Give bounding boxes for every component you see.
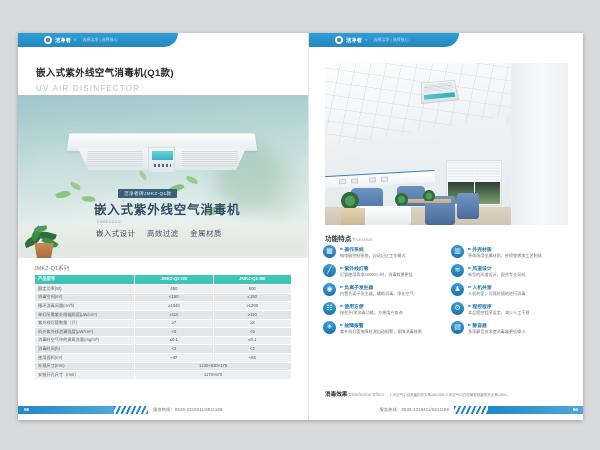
feature-text: ▸▸操作系统微电脑控制系统，自动记忆工作模式 <box>340 245 406 259</box>
circle-logo-icon <box>44 36 52 44</box>
table-row: 紫外线灯管数量（只）≥7≥8 <box>35 319 292 328</box>
feature-item: ▤▸▸静音器多项静音技术使消毒器更低噪小 <box>451 321 573 335</box>
room-plant-icon <box>341 192 359 208</box>
feature-item: ≋▸▸风道设计新型的风道设计，配合专业风机 <box>451 264 573 278</box>
control-panel-icon: ▦ <box>323 245 336 258</box>
feature-item: ◉▸▸负离子发生器内置负离子发生器，辅助消毒、净化空气 <box>323 283 445 297</box>
brand-trademark-icon: ® <box>74 38 76 42</box>
feature-item: ▦▸▸操作系统微电脑控制系统，自动记忆工作模式 <box>323 245 445 259</box>
spec-row-label: 机外紫外线泄漏强度(μW/cm²) <box>35 328 135 337</box>
spec-row-label: 额定功率(W) <box>35 285 135 294</box>
table-row: 循环消毒风量(m³/h)≥1040≥1200 <box>35 302 292 311</box>
specification-table: 产品型号 JMKZ-Q1-I30 JMKZ-Q1-I50 额定功率(W)4505… <box>34 274 292 380</box>
background-blur-blob <box>256 153 300 219</box>
feature-description: 壳体选用金属材质，经喷塑烤漆工艺制成 <box>468 254 542 259</box>
feature-title: 人机共室 <box>472 284 491 291</box>
feature-text: ▸▸使用方便按在开/关消毒功能，方便用户查询 <box>340 302 403 316</box>
spec-table-body: 额定功率(W)450500消毒空间(m³)≤150≤150循环消毒风量(m³/h… <box>35 285 292 380</box>
effect-label-en: /Disinfection Effect <box>347 392 383 397</box>
hero-feature-list: 嵌入式设计 高效过滤 金属材质 <box>96 228 231 239</box>
wall-outlet-icon <box>381 177 388 182</box>
table-row: 单灯所需紫外线辐照度(μW/cm²)≥110≥110 <box>35 311 292 320</box>
chevron-right-icon: ▸▸ <box>468 266 470 270</box>
spec-row-value: ≥8 <box>213 319 291 328</box>
table-header-row: 产品型号 JMKZ-Q1-I30 JMKZ-Q1-I50 <box>35 275 292 285</box>
catalog-spread: 洁净者 ® 选择洁净 | 选择放心 嵌入式紫外线空气消毒机(Q1款) UV AI… <box>18 33 583 420</box>
easy-use-icon: ☷ <box>323 302 336 315</box>
feature-text: ▸▸静音器多项静音技术使消毒器更低噪小 <box>468 321 525 335</box>
spec-row-value: <5 <box>213 328 291 337</box>
features-title-en: /Function <box>351 237 373 242</box>
program-icon: ⚙ <box>451 302 464 315</box>
feature-description: 灯管使用寿命≥6000小时，消毒效果更佳 <box>340 273 413 278</box>
feature-description: 按在开/关消毒功能，方便用户查询 <box>340 311 403 316</box>
effect-description: 1.对空气中自然菌的杀灭率≥95.90% 2.对空气中白色葡萄球菌的杀灭率≥99… <box>390 393 511 398</box>
feature-title: 操作系统 <box>344 246 363 253</box>
spec-row-label: 紫外线灯管数量（只） <box>35 319 135 328</box>
feature-text: ▸▸紫外线灯管灯管使用寿命≥6000小时，消毒效果更佳 <box>340 264 413 278</box>
footer-bar: 56 <box>488 406 583 414</box>
feature-item: ╱▸▸紫外线灯管灯管使用寿命≥6000小时，消毒效果更佳 <box>323 264 445 278</box>
feature-text: ▸▸程控程序本品程控程序设定，减少人工干预 <box>468 302 529 316</box>
spec-row-value: ≤0.1 <box>213 336 291 345</box>
spec-row-value: ≥110 <box>213 311 291 320</box>
spec-row-value: 1170×570 <box>135 371 292 380</box>
feature-description: 多项静音技术使消毒器更低噪小 <box>468 330 525 335</box>
footer-stripe-decoration <box>114 406 148 414</box>
chevron-right-icon: ▸▸ <box>340 266 342 270</box>
spec-row-value: <2 <box>213 345 291 354</box>
ion-generator-icon: ◉ <box>323 283 336 296</box>
chevron-right-icon: ▸▸ <box>468 247 470 251</box>
wall-outlet-icon <box>339 179 346 184</box>
feature-item: ♟▸▸人机共室人机共室，可随时随地进行消毒 <box>451 283 573 297</box>
features-title-cn: 功能特点 <box>325 236 351 243</box>
feature-item: ✳▸▸故障报警紫外线灯管故障检测自动报警，保障消毒效果 <box>323 321 445 335</box>
brand-name: 洁净者 <box>346 37 362 44</box>
chevron-right-icon: ▸▸ <box>340 247 342 251</box>
spec-row-value: ≤0.1 <box>135 336 213 345</box>
spec-table-header: 产品型号 JMKZ-Q1-I30 JMKZ-Q1-I50 <box>35 275 292 285</box>
feature-head: ▸▸使用方便 <box>340 303 403 310</box>
hero-feature-item: 嵌入式设计 <box>96 229 135 238</box>
feature-title: 紫外线灯管 <box>344 265 368 272</box>
feature-head: ▸▸负离子发生器 <box>340 284 414 291</box>
room-side-wall <box>506 63 568 225</box>
ceiling-mounted-disinfector <box>421 80 459 104</box>
spec-row-value: ≈47 <box>135 354 213 363</box>
spec-row-value: ≥1040 <box>135 302 213 311</box>
room-plant-icon <box>395 193 408 205</box>
feature-head: ▸▸静音器 <box>468 322 525 329</box>
footer-bar: 55 <box>18 406 114 414</box>
potted-plant-decoration <box>22 214 66 258</box>
page-number: 56 <box>488 407 583 412</box>
hospital-bed-footboard <box>457 193 479 219</box>
feature-item: ☷▸▸使用方便按在开/关消毒功能，方便用户查询 <box>323 302 445 316</box>
feature-text: ▸▸负离子发生器内置负离子发生器，辅助消毒、净化空气 <box>340 283 414 297</box>
table-row: 消毒空间(m³)≤150≤150 <box>35 293 292 302</box>
wall-outlet-icon <box>351 178 358 183</box>
table-row: 消毒时间(h)<2<2 <box>35 345 292 354</box>
spec-row-label: 安装开孔尺寸（mm） <box>35 371 135 380</box>
spec-row-value: ≤150 <box>213 293 291 302</box>
spec-row-label: 使用面积(m²) <box>35 354 135 363</box>
features-section-title: 功能特点/Function <box>325 233 373 243</box>
alarm-icon: ✳ <box>323 321 336 334</box>
brand-name: 洁净者 <box>55 37 71 44</box>
spec-row-value: 450 <box>135 285 213 294</box>
hero-model-badge: 洁净者牌JMKZ-Q1款 <box>118 189 177 198</box>
panel-buttons-icon <box>154 164 171 167</box>
spec-col-header: 产品型号 <box>35 275 135 285</box>
feature-text: ▸▸人机共室人机共室，可随时随地进行消毒 <box>468 283 525 297</box>
feature-title: 程控程序 <box>472 303 491 310</box>
feature-title: 负离子发生器 <box>344 284 373 291</box>
feature-head: ▸▸故障报警 <box>340 322 422 329</box>
spec-row-label: 外观尺寸(mm) <box>35 362 135 371</box>
air-grille-left <box>86 151 143 166</box>
catalog-page-right: 洁净者 ® 选择洁净 | 选择放心 <box>308 33 583 420</box>
air-grille-right <box>182 151 239 166</box>
table-row: 安装开孔尺寸（mm）1170×570 <box>35 371 292 380</box>
spec-row-value: ≥7 <box>135 319 213 328</box>
chevron-right-icon: ▸▸ <box>340 304 342 308</box>
service-hotline: 服务热线：0538-3318411/6811169 <box>375 407 454 413</box>
spec-row-label: 消毒时间(h) <box>35 345 135 354</box>
spec-row-label: 循环消毒风量(m³/h) <box>35 302 135 311</box>
feature-text: ▸▸风道设计新型的风道设计，配合专业风机 <box>468 264 525 278</box>
spec-col-header: JMKZ-Q1-I50 <box>213 275 291 285</box>
lamp-tube-icon: ╱ <box>323 264 336 277</box>
chevron-right-icon: ▸▸ <box>468 304 470 308</box>
product-title-cn: 嵌入式紫外线空气消毒机(Q1款) <box>36 65 174 79</box>
page-number: 55 <box>18 407 29 412</box>
window-blind-icon <box>448 162 500 182</box>
feature-title: 风道设计 <box>472 265 491 272</box>
shell-icon: ▥ <box>451 245 464 258</box>
feature-description: 微电脑控制系统，自动记忆工作模式 <box>340 254 406 259</box>
disinfection-effect-row: 消毒效果/Disinfection Effect 1.对空气中自然菌的杀灭率≥9… <box>325 390 510 398</box>
spec-row-value: ≈56 <box>213 354 291 363</box>
feature-description: 紫外线灯管故障检测自动报警，保障消毒效果 <box>340 330 422 335</box>
feature-description: 新型的风道设计，配合专业风机 <box>468 273 525 278</box>
brand-slogan: 选择洁净 | 选择放心 <box>82 37 117 43</box>
feature-head: ▸▸风道设计 <box>468 265 525 272</box>
feature-head: ▸▸操作系统 <box>340 246 406 253</box>
brand-slogan: 选择洁净 | 选择放心 <box>373 37 408 43</box>
spec-series-label: JMKZ-Q1系列 <box>34 265 69 272</box>
room-nightstand <box>341 208 365 225</box>
hero-subtitle-en: EMBEDDED <box>97 220 121 224</box>
unit-control-panel <box>148 147 175 173</box>
spec-col-header: JMKZ-Q1-I30 <box>135 275 213 285</box>
spec-row-value: ≥110 <box>135 311 213 320</box>
spec-row-value: ≤150 <box>135 293 213 302</box>
airflow-icon: ≋ <box>451 264 464 277</box>
hero-headline: 嵌入式紫外线空气消毒机 <box>94 199 240 218</box>
page-title: 嵌入式紫外线空气消毒机(Q1款) UV AIR DISINFECTOR <box>36 65 174 93</box>
panel-display-icon <box>152 151 173 160</box>
feature-head: ▸▸人机共室 <box>468 284 525 291</box>
brand-bar: 洁净者 ® 选择洁净 | 选择放心 <box>18 33 178 47</box>
table-row: 机外紫外线泄漏强度(μW/cm²)<5<5 <box>35 328 292 337</box>
table-row: 外观尺寸(mm)1230×630×175 <box>35 362 292 371</box>
chevron-right-icon: ▸▸ <box>468 285 470 289</box>
feature-title: 故障报警 <box>344 322 363 329</box>
page-footer: 55 服务热线：0538-3318411/6811169 <box>18 405 308 414</box>
product-hero-photo: 洁净者牌JMKZ-Q1款 嵌入式紫外线空气消毒机 EMBEDDED 嵌入式设计 … <box>18 95 308 258</box>
product-title-en: UV AIR DISINFECTOR <box>36 84 174 93</box>
table-row: 额定功率(W)450500 <box>35 285 292 294</box>
hospital-room-installation-photo <box>325 63 568 225</box>
chevron-right-icon: ▸▸ <box>340 285 342 289</box>
effect-label-cn: 消毒效果 <box>325 392 347 398</box>
feature-description: 人机共室，可随时随地进行消毒 <box>468 292 525 297</box>
feature-text: ▸▸外壳材质壳体选用金属材质，经喷塑烤漆工艺制成 <box>468 245 542 259</box>
features-grid: ▦▸▸操作系统微电脑控制系统，自动记忆工作模式▥▸▸外壳材质壳体选用金属材质，经… <box>323 245 573 335</box>
chevron-right-icon: ▸▸ <box>468 323 470 327</box>
chevron-right-icon: ▸▸ <box>340 323 342 327</box>
hero-feature-item: 高效过滤 <box>147 229 179 238</box>
catalog-page-left: 洁净者 ® 选择洁净 | 选择放心 嵌入式紫外线空气消毒机(Q1款) UV AI… <box>18 33 308 420</box>
wall-outlet-icon <box>369 177 376 182</box>
feature-title: 使用方便 <box>344 303 363 310</box>
spec-row-value: <2 <box>135 345 213 354</box>
feature-head: ▸▸外壳材质 <box>468 246 542 253</box>
spec-row-value: 500 <box>213 285 291 294</box>
circle-logo-icon <box>335 36 343 44</box>
brand-bar: 洁净者 ® 选择洁净 | 选择放心 <box>309 33 459 47</box>
table-row: 消毒时空气中的臭氧含量(mg/m³)≤0.1≤0.1 <box>35 336 292 345</box>
product-unit-illustration <box>62 125 262 183</box>
feature-title: 外壳材质 <box>472 246 491 253</box>
person-icon: ♟ <box>451 283 464 296</box>
table-row: 使用面积(m²)≈47≈56 <box>35 354 292 363</box>
feature-description: 内置负离子发生器，辅助消毒、净化空气 <box>340 292 414 297</box>
effect-label: 消毒效果/Disinfection Effect <box>325 390 384 398</box>
spec-row-label: 消毒空间(m³) <box>35 293 135 302</box>
room-plant-icon <box>423 190 435 201</box>
feature-item: ⚙▸▸程控程序本品程控程序设定，减少人工干预 <box>451 302 573 316</box>
feature-description: 本品程控程序设定，减少人工干预 <box>468 311 529 316</box>
spec-row-label: 消毒时空气中的臭氧含量(mg/m³) <box>35 336 135 345</box>
feature-head: ▸▸紫外线灯管 <box>340 265 413 272</box>
silencer-icon: ▤ <box>451 321 464 334</box>
service-hotline: 服务热线：0538-3318411/6811169 <box>148 407 227 413</box>
spec-row-label: 单灯所需紫外线辐照度(μW/cm²) <box>35 311 135 320</box>
feature-text: ▸▸故障报警紫外线灯管故障检测自动报警，保障消毒效果 <box>340 321 422 335</box>
spec-row-value: 1230×630×175 <box>135 362 292 371</box>
spec-row-value: <5 <box>135 328 213 337</box>
spec-row-value: ≥1200 <box>213 302 291 311</box>
feature-item: ▥▸▸外壳材质壳体选用金属材质，经喷塑烤漆工艺制成 <box>451 245 573 259</box>
page-footer: 服务热线：0538-3318411/6811169 56 <box>309 405 583 414</box>
plant-pot-icon <box>33 243 55 258</box>
feature-title: 静音器 <box>472 322 486 329</box>
hero-feature-item: 金属材质 <box>190 229 222 238</box>
footer-stripe-decoration <box>454 406 488 414</box>
feature-head: ▸▸程控程序 <box>468 303 529 310</box>
brand-trademark-icon: ® <box>365 38 367 42</box>
